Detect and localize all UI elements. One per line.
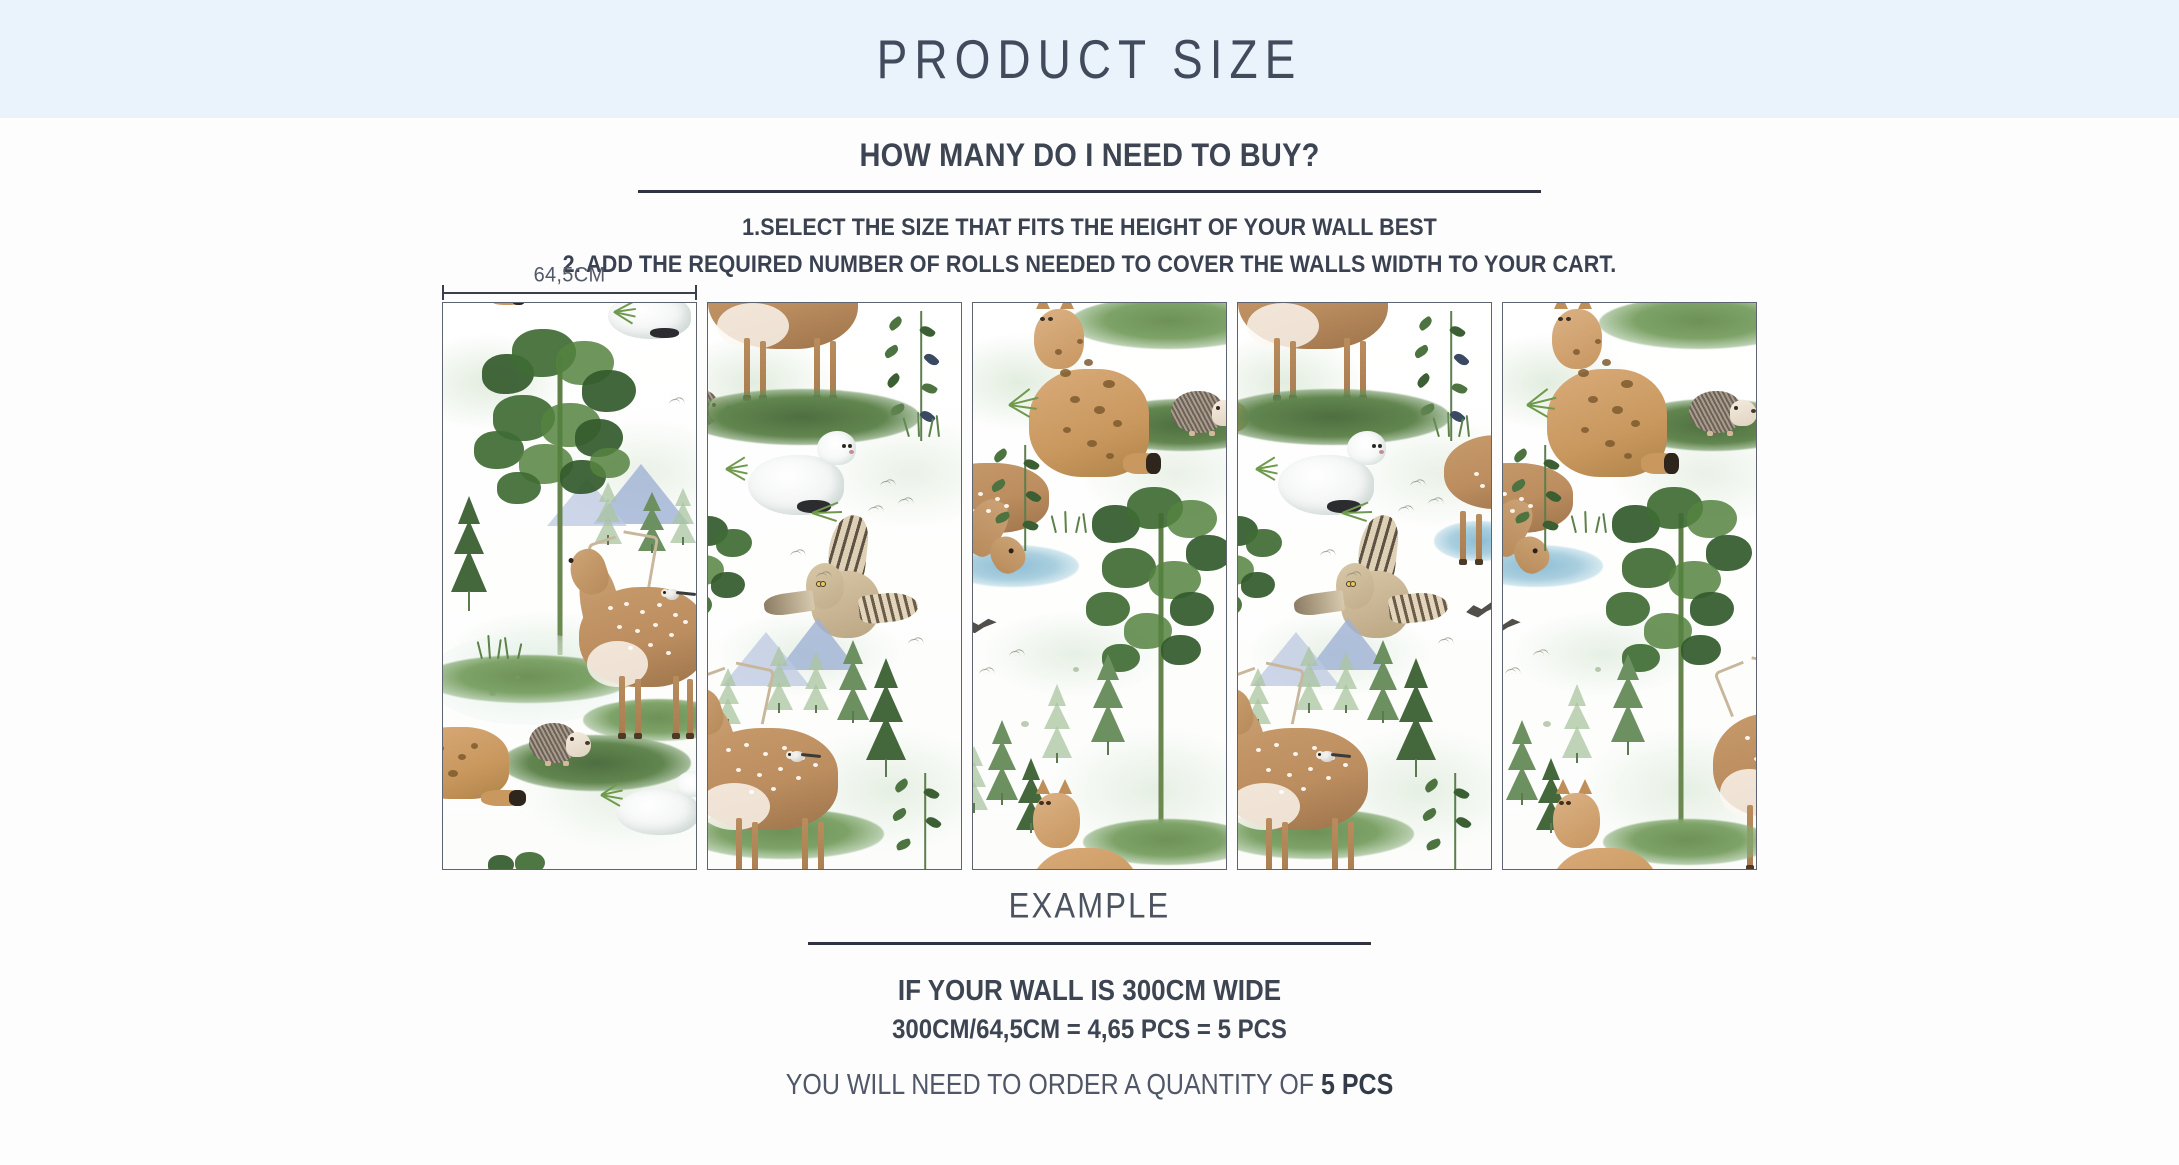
header-band: PRODUCT SIZE xyxy=(0,0,2179,118)
lynx-icon xyxy=(443,687,509,799)
panel-artwork xyxy=(1238,303,1491,869)
deer-stag-icon xyxy=(708,685,838,869)
conifer-tree-icon xyxy=(1611,651,1645,755)
dimension-cap-left-icon xyxy=(442,285,444,300)
instructions-block: HOW MANY DO I NEED TO BUY? 1.SELECT THE … xyxy=(0,118,2179,277)
conifer-tree-icon xyxy=(1368,637,1398,723)
example-conclusion-quantity: 5 PCS xyxy=(1321,1069,1393,1101)
panel-artwork xyxy=(973,303,1226,869)
pine-sprig-icon xyxy=(614,303,644,323)
paint-splatter xyxy=(1021,721,1029,727)
width-dimension: 64,5CM xyxy=(442,268,697,302)
conifer-tree-icon xyxy=(987,717,1017,805)
panel-artwork xyxy=(443,303,696,869)
tree-fragment-icon xyxy=(487,851,557,869)
deer-stag-icon xyxy=(579,545,696,737)
wallpaper-panel-3[interactable] xyxy=(972,302,1227,870)
dimension-cap-right-icon xyxy=(695,285,697,300)
wallpaper-panel-5[interactable] xyxy=(1502,302,1757,870)
conifer-tree-icon xyxy=(1563,681,1591,763)
leaf-sprig-icon xyxy=(999,445,1051,551)
pine-sprig-icon xyxy=(726,455,758,481)
tree-fragment-icon xyxy=(708,511,774,639)
example-title: EXAMPLE xyxy=(0,885,2179,926)
hedgehog-icon xyxy=(529,723,591,763)
pine-sprig-icon xyxy=(1009,389,1051,419)
example-block: EXAMPLE IF YOUR WALL IS 300CM WIDE 300CM… xyxy=(0,888,2179,1100)
hedgehog-icon xyxy=(1171,391,1226,433)
deer-legs-fragment-icon xyxy=(708,303,858,399)
conifer-tree-icon xyxy=(1396,655,1436,777)
wallpaper-panel-2[interactable] xyxy=(707,302,962,870)
paint-splatter xyxy=(489,691,496,696)
pine-sprig-icon xyxy=(1256,455,1288,481)
page-title: PRODUCT SIZE xyxy=(877,27,1303,91)
lynx-tail-fragment-icon xyxy=(449,303,519,315)
instructions-divider xyxy=(638,190,1541,193)
example-divider xyxy=(808,942,1371,945)
deer-legs-fragment-icon xyxy=(1238,303,1388,399)
paint-splatter xyxy=(1073,667,1079,672)
wallpaper-panel-strip xyxy=(442,302,1757,870)
instruction-step-2: 2. ADD THE REQUIRED NUMBER OF ROLLS NEED… xyxy=(0,251,2179,279)
paint-splatter xyxy=(515,675,520,679)
instructions-subtitle: HOW MANY DO I NEED TO BUY? xyxy=(0,138,2179,175)
leaf-sprig-icon xyxy=(1430,773,1480,869)
instruction-step-1: 1.SELECT THE SIZE THAT FITS THE HEIGHT O… xyxy=(0,214,2179,242)
conifer-tree-icon xyxy=(866,655,906,777)
paint-splatter xyxy=(1595,667,1601,672)
conifer-tree-icon xyxy=(1091,651,1125,755)
leaf-sprig-icon xyxy=(1519,445,1571,551)
paint-splatter xyxy=(1543,721,1551,727)
conifer-tree-icon xyxy=(1507,717,1537,805)
hedgehog-icon xyxy=(1689,391,1756,433)
product-size-page: PRODUCT SIZE HOW MANY DO I NEED TO BUY? … xyxy=(0,0,2179,1165)
example-wall-width: IF YOUR WALL IS 300CM WIDE xyxy=(0,973,2179,1008)
dimension-arrow-icon xyxy=(442,292,697,294)
wallpaper-panel-4[interactable] xyxy=(1237,302,1492,870)
lynx-fragment-icon xyxy=(1549,793,1659,869)
conifer-tree-icon xyxy=(973,743,987,813)
fawn-fragment-icon xyxy=(1444,427,1491,563)
panel-artwork xyxy=(708,303,961,869)
example-conclusion-prefix: YOU WILL NEED TO ORDER A QUANTITY OF xyxy=(786,1069,1321,1101)
lynx-fragment-icon xyxy=(1029,793,1139,869)
pine-sprig-icon xyxy=(1527,389,1569,419)
width-dimension-label: 64,5CM xyxy=(442,263,697,288)
deer-stag-icon xyxy=(1238,685,1368,869)
panel-artwork xyxy=(1503,303,1756,869)
pine-sprig-icon xyxy=(601,781,631,807)
conifer-tree-icon xyxy=(838,637,868,723)
example-conclusion: YOU WILL NEED TO ORDER A QUANTITY OF 5 P… xyxy=(0,1069,2179,1102)
leaf-sprig-icon xyxy=(900,773,950,869)
wallpaper-panel-1[interactable] xyxy=(442,302,697,870)
conifer-tree-icon xyxy=(671,485,695,545)
tree-fragment-icon xyxy=(1238,511,1304,639)
example-calculation: 300CM/64,5CM = 4,65 PCS = 5 PCS xyxy=(0,1014,2179,1045)
conifer-tree-icon xyxy=(1043,681,1071,763)
grass-tuft xyxy=(477,633,527,659)
